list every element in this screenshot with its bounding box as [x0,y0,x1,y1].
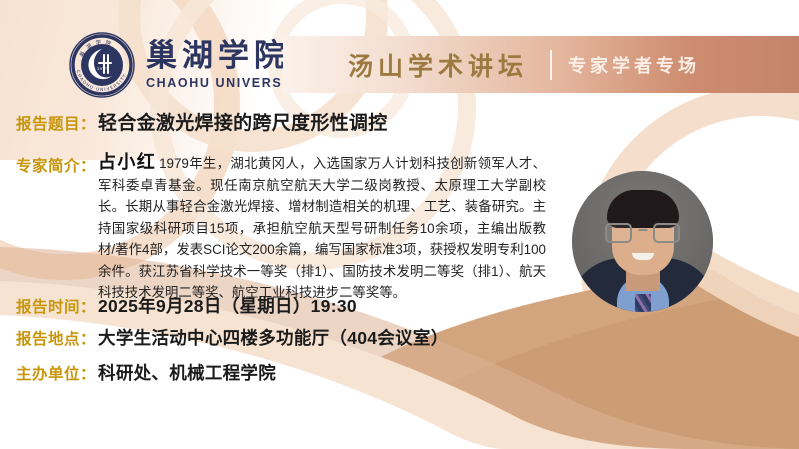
speaker-portrait [572,171,713,312]
report-host-label: 主办单位： [16,362,96,384]
report-title-value: 轻合金激光焊接的跨尺度形性调控 [98,108,388,135]
seminar-poster: 1977 巢 湖 学 院 CHAOHU UNIVERSITY 巢湖学院 CHAO… [0,0,799,449]
event-banner: 汤山学术讲坛 专家学者专场 [283,36,799,93]
portrait-glasses-bridge [638,229,647,231]
report-host-value: 科研处、机械工程学院 [98,360,276,385]
report-title-label: 报告题目： [16,112,96,134]
speaker-bio-text: 1979年生，湖北黄冈人，入选国家万人计划科技创新领军人才、军科委卓青基金。现任… [98,156,546,300]
report-place-value: 大学生活动中心四楼多功能厅（404会议室） [98,325,449,350]
speaker-name: 占小红 [98,152,156,172]
speaker-bio-row: 专家简介： 占小红1979年生，湖北黄冈人，入选国家万人计划科技创新领军人才、军… [16,152,546,304]
university-logo: 1977 巢 湖 学 院 CHAOHU UNIVERSITY 巢湖学院 CHAO… [68,31,307,99]
banner-main-title: 汤山学术讲坛 [348,47,528,83]
portrait-smile [632,253,654,260]
banner-sub-title: 专家学者专场 [568,52,700,78]
report-time-value: 2025年9月28日（星期日）19:30 [98,293,357,318]
speaker-bio-label: 专家简介： [16,152,96,176]
svg-text:1977: 1977 [97,66,108,71]
university-seal-icon: 1977 巢 湖 学 院 CHAOHU UNIVERSITY [68,31,136,99]
report-place-row: 报告地点： 大学生活动中心四楼多功能厅（404会议室） [16,325,449,350]
banner-divider [550,50,552,80]
report-host-row: 主办单位： 科研处、机械工程学院 [16,360,276,385]
report-time-row: 报告时间： 2025年9月28日（星期日）19:30 [16,293,357,318]
speaker-bio-body: 占小红1979年生，湖北黄冈人，入选国家万人计划科技创新领军人才、军科委卓青基金… [98,152,546,304]
portrait-glasses-left [605,223,632,243]
report-time-label: 报告时间： [16,295,96,317]
portrait-tie [635,294,651,312]
report-place-label: 报告地点： [16,327,96,349]
report-title-row: 报告题目： 轻合金激光焊接的跨尺度形性调控 [16,108,388,135]
portrait-glasses-right [653,223,680,243]
